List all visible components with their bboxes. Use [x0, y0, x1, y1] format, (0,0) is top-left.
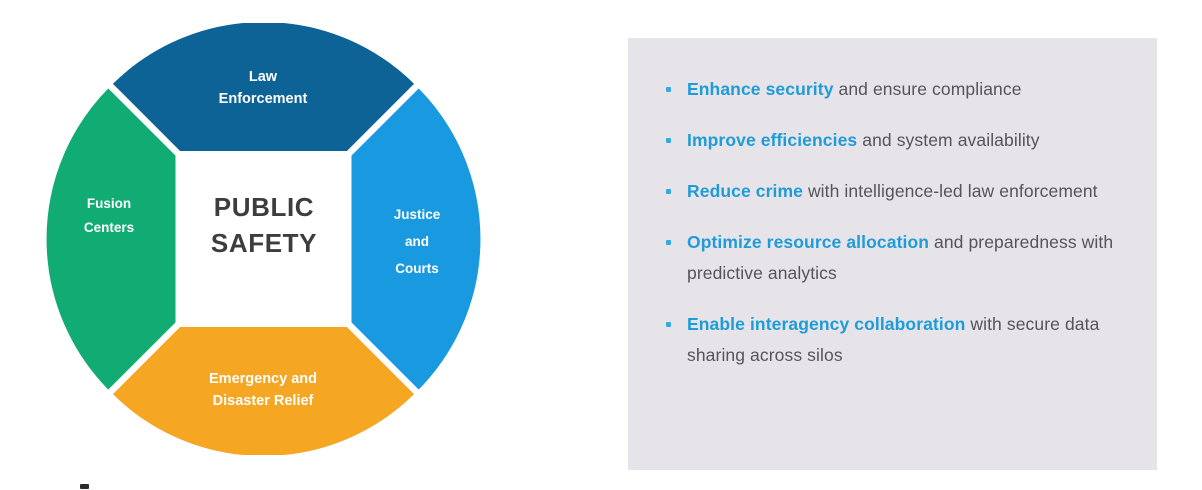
- benefit-item: Improve efficiencies and system availabi…: [658, 125, 1127, 156]
- benefit-item: Enable interagency collaboration with se…: [658, 309, 1127, 371]
- segment-label-fusion-line1: Fusion: [87, 196, 131, 211]
- benefit-text: and ensure compliance: [834, 79, 1022, 99]
- stray-mark: [80, 484, 89, 489]
- bullet-icon: [666, 189, 671, 194]
- segment-label-justice-line1: Justice: [394, 207, 441, 222]
- segment-label-fusion-line2: Centers: [84, 220, 134, 235]
- benefits-list: Enhance security and ensure compliance I…: [628, 38, 1157, 371]
- center-label-line1: PUBLIC: [214, 192, 314, 222]
- benefit-highlight: Reduce crime: [687, 181, 803, 201]
- bullet-icon: [666, 138, 671, 143]
- bullet-icon: [666, 87, 671, 92]
- benefit-highlight: Enable interagency collaboration: [687, 314, 965, 334]
- center-label-line2: SAFETY: [211, 228, 317, 258]
- benefit-highlight: Optimize resource allocation: [687, 232, 929, 252]
- bullet-icon: [666, 322, 671, 327]
- benefit-item: Optimize resource allocation and prepare…: [658, 227, 1127, 289]
- benefit-item: Enhance security and ensure compliance: [658, 74, 1127, 105]
- bullet-icon: [666, 240, 671, 245]
- benefit-highlight: Improve efficiencies: [687, 130, 857, 150]
- benefits-panel: Enhance security and ensure compliance I…: [628, 38, 1157, 470]
- segment-label-justice-line3: Courts: [395, 261, 439, 276]
- wheel-svg: Law Enforcement Justice and Courts Emerg…: [46, 23, 481, 455]
- benefit-text: with intelligence-led law enforcement: [803, 181, 1098, 201]
- segment-label-emergency-line2: Disaster Relief: [213, 393, 314, 409]
- segment-label-law-enforcement-line2: Enforcement: [219, 91, 308, 107]
- segment-label-law-enforcement-line1: Law: [249, 69, 278, 85]
- benefit-highlight: Enhance security: [687, 79, 834, 99]
- segment-label-justice-line2: and: [405, 234, 429, 249]
- infographic-root: Law Enforcement Justice and Courts Emerg…: [0, 0, 1202, 490]
- benefit-text: and system availability: [857, 130, 1039, 150]
- segment-label-emergency-line1: Emergency and: [209, 371, 317, 387]
- benefit-item: Reduce crime with intelligence-led law e…: [658, 176, 1127, 207]
- public-safety-wheel-diagram: Law Enforcement Justice and Courts Emerg…: [46, 23, 481, 455]
